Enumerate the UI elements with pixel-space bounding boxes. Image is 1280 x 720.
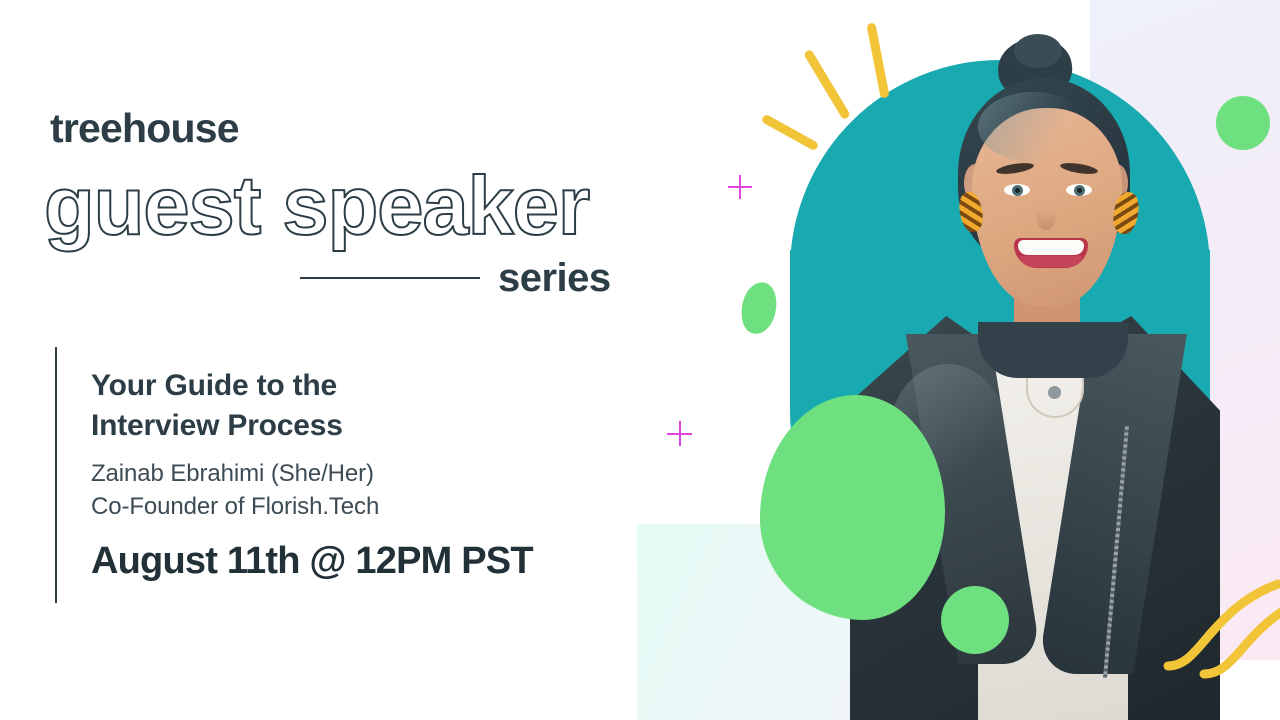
teeth bbox=[1018, 240, 1084, 255]
series-row: series bbox=[300, 252, 630, 304]
iris-left bbox=[1012, 185, 1023, 196]
iris-right bbox=[1074, 185, 1085, 196]
series-headline: guest speaker bbox=[44, 164, 589, 247]
green-dot-icon bbox=[1216, 96, 1270, 150]
lower-lip bbox=[1020, 256, 1082, 267]
mouth-shape bbox=[1014, 238, 1088, 268]
hair-highlight bbox=[978, 92, 1088, 162]
squiggle-lines-icon bbox=[1160, 570, 1280, 680]
talk-title-line-2: Interview Process bbox=[91, 409, 343, 442]
detail-accent-bar bbox=[55, 347, 57, 603]
slide-canvas: treehouse guest speaker series Your Guid… bbox=[0, 0, 1280, 720]
jacket-collar bbox=[978, 322, 1128, 378]
series-divider-rule bbox=[300, 277, 480, 279]
talk-title-line-1: Your Guide to the bbox=[91, 369, 337, 402]
speaker-name: Zainab Ebrahimi (She/Her) bbox=[91, 458, 611, 491]
jacket-stud bbox=[1048, 386, 1061, 399]
talk-title: Your Guide to the Interview Process bbox=[91, 366, 611, 445]
text-content: treehouse guest speaker series Your Guid… bbox=[0, 0, 660, 720]
series-label: series bbox=[498, 258, 611, 298]
treehouse-wordmark: treehouse bbox=[50, 108, 239, 149]
speaker-role: Co-Founder of Florish.Tech bbox=[91, 491, 611, 524]
sparkle-stroke-icon bbox=[761, 114, 820, 152]
plus-mark-icon bbox=[728, 175, 752, 199]
event-datetime: August 11th @ 12PM PST bbox=[91, 541, 611, 583]
green-circle-icon bbox=[941, 586, 1009, 654]
eye-right bbox=[1066, 184, 1092, 196]
event-details: Your Guide to the Interview Process Zain… bbox=[91, 366, 611, 583]
nose-shape bbox=[1036, 200, 1056, 230]
green-blob bbox=[760, 395, 945, 620]
plus-mark-icon bbox=[667, 421, 692, 446]
green-pill-blob bbox=[736, 279, 782, 338]
hair-bun-highlight bbox=[1014, 34, 1062, 68]
eye-left bbox=[1004, 184, 1030, 196]
